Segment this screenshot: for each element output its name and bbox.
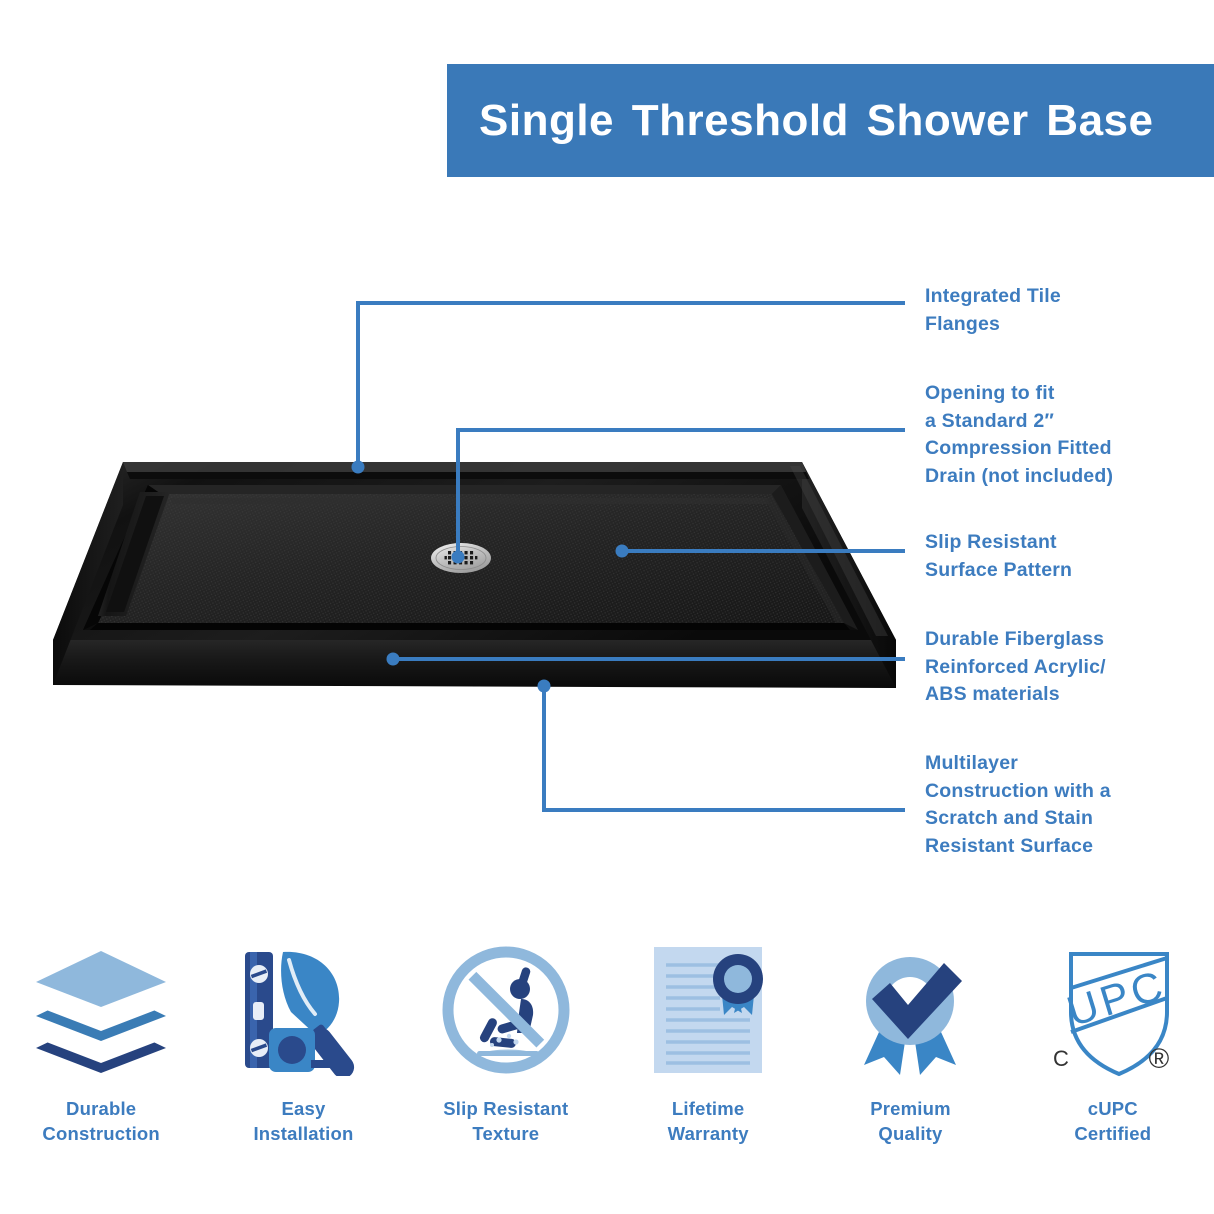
feature-label: Lifetime Warranty	[668, 1097, 749, 1147]
feature-label: Durable Construction	[42, 1097, 160, 1147]
callout-text: Multilayer Construction with a Scratch a…	[925, 752, 1111, 857]
feature-strip: Durable Construction	[0, 935, 1214, 1180]
page-title: Single Threshold Shower Base	[447, 96, 1153, 146]
callout-text: Slip Resistant Surface Pattern	[925, 531, 1072, 581]
tools-icon	[233, 935, 373, 1085]
drain-grate-holes	[445, 551, 478, 564]
feature-item-lifetime-warranty: Lifetime Warranty	[607, 935, 809, 1180]
upc-shield-icon: UPC C ®	[1043, 935, 1183, 1085]
feature-item-premium-quality: Premium Quality	[809, 935, 1011, 1180]
callout-label-multilayer-construction: Multilayer Construction with a Scratch a…	[925, 750, 1190, 861]
callout-label-slip-resistant-surface: Slip Resistant Surface Pattern	[925, 529, 1190, 584]
product-image-shower-base	[20, 430, 910, 730]
callout-label-integrated-tile-flanges: Integrated Tile Flanges	[925, 283, 1190, 338]
registered-mark: ®	[1148, 1043, 1169, 1074]
callout-label-drain-opening: Opening to fit a Standard 2″ Compression…	[925, 380, 1190, 491]
feature-label: Premium Quality	[870, 1097, 951, 1147]
feature-item-durable-construction: Durable Construction	[0, 935, 202, 1180]
no-slip-icon	[437, 935, 575, 1085]
feature-label: Easy Installation	[253, 1097, 353, 1147]
feature-label: cUPC Certified	[1074, 1097, 1151, 1147]
callout-text: Durable Fiberglass Reinforced Acrylic/ A…	[925, 628, 1106, 705]
callout-text: Integrated Tile Flanges	[925, 285, 1061, 335]
certificate-icon	[646, 935, 770, 1085]
layers-icon	[31, 935, 171, 1085]
callout-label-durable-materials: Durable Fiberglass Reinforced Acrylic/ A…	[925, 626, 1190, 709]
upc-prefix-c: C	[1053, 1046, 1069, 1071]
shower-base-illustration	[20, 430, 910, 730]
feature-item-easy-installation: Easy Installation	[202, 935, 404, 1180]
callout-text: Opening to fit a Standard 2″ Compression…	[925, 382, 1113, 487]
header-banner: Single Threshold Shower Base	[447, 64, 1214, 177]
check-rosette-icon	[844, 935, 976, 1085]
feature-item-slip-resistant: Slip Resistant Texture	[405, 935, 607, 1180]
feature-item-cupc-certified: UPC C ® cUPC Certified	[1012, 935, 1214, 1180]
feature-label: Slip Resistant Texture	[443, 1097, 568, 1147]
